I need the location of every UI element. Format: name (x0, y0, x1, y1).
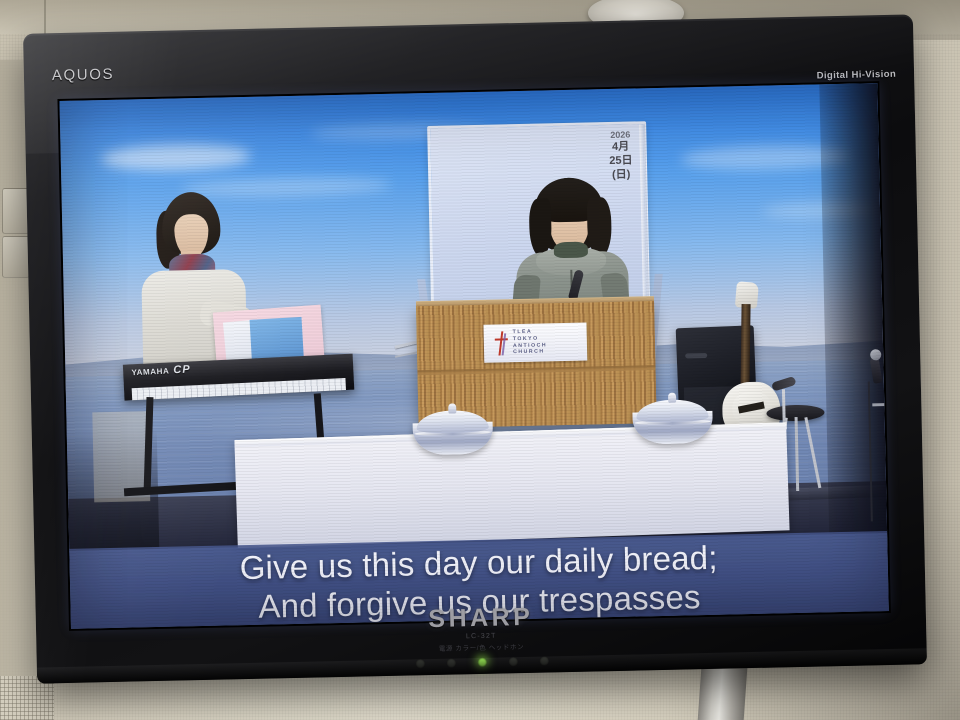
speaker-hair-side (529, 198, 552, 256)
microphone-icon (870, 349, 881, 360)
cross-icon (495, 331, 509, 355)
broadcast-video: 2026 4月 25日 (日) (59, 83, 888, 629)
speaker-collar (554, 242, 588, 259)
vessel-knob (448, 403, 456, 413)
digital-hi-vision-badge: Digital Hi-Vision (817, 69, 897, 82)
podium-sign-line-2: TOKYO (513, 336, 547, 342)
bass-neck (740, 304, 750, 390)
tv-screen[interactable]: 2026 4月 25日 (日) (59, 83, 888, 629)
podium-sign-line-1: TLEA (513, 330, 547, 336)
vessel-knob (668, 393, 676, 403)
stool-leg (804, 417, 821, 488)
whiteboard-date: 2026 4月 25日 (日) (605, 130, 636, 181)
aquos-logo: AQUOS (52, 66, 115, 84)
microphone-icon (870, 357, 883, 384)
television[interactable]: AQUOS Digital Hi-Vision (23, 14, 927, 683)
whiteboard-year: 2026 (610, 131, 630, 141)
stool-leg (795, 417, 800, 491)
whiteboard-day: 25日 (609, 156, 632, 168)
amp-handle (685, 353, 707, 358)
podium-sign-line-4: CHURCH (513, 350, 547, 356)
keyboard-model-label: CP (173, 363, 191, 376)
podium-sign-text: TLEA TOKYO ANTIOCH CHURCH (513, 330, 548, 356)
room-scene: AQUOS Digital Hi-Vision (0, 0, 960, 720)
whiteboard-month: 4月 (612, 142, 629, 154)
communion-vessel (632, 395, 713, 445)
communion-vessel (412, 406, 493, 456)
yamaha-logo: YAMAHA (131, 366, 169, 377)
podium-sign: TLEA TOKYO ANTIOCH CHURCH (483, 323, 587, 363)
wall-socket-lower (2, 236, 30, 278)
